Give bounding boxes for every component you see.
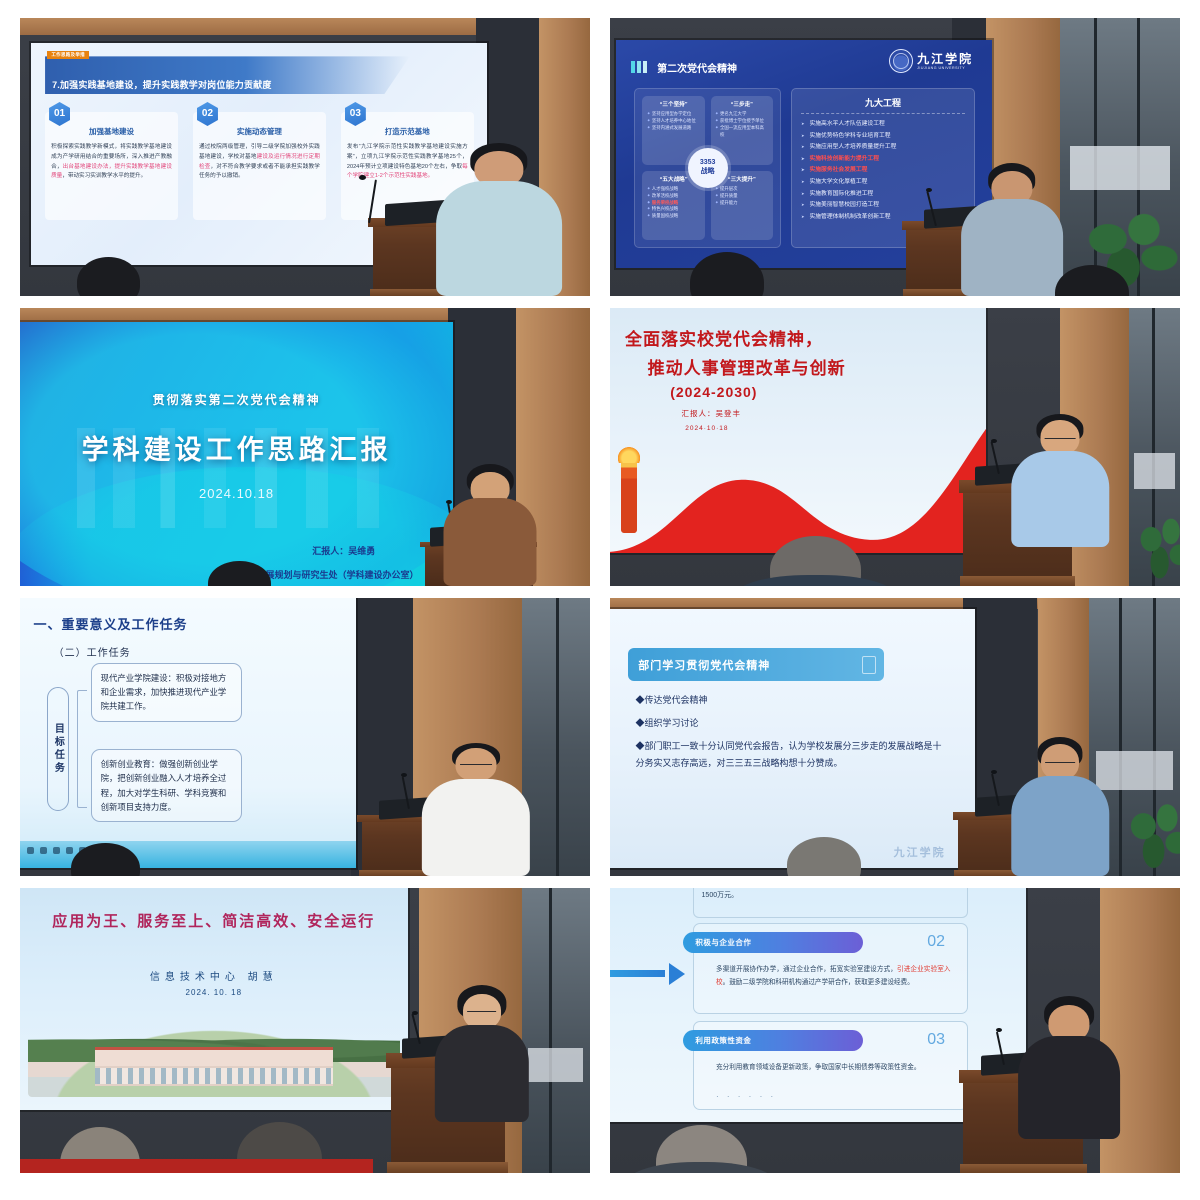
projection-screen: 部门学习贯彻党代会精神 传达党代会精神 组织学习讨论 部门职工一致十分认同党代会… [610,609,975,868]
project-item: 实施高水平人才队伍建设工程 [801,119,965,131]
torch-icon [621,455,637,533]
toolbar-icon-3[interactable] [53,847,60,854]
slide-period: (2024-2030) [670,384,757,400]
slide-subtitle: 贯彻落实第二次党代会精神 [20,391,453,408]
projection-screen: 应用为王、服务至上、简洁高效、安全运行 信息技术中心 胡慧 2024. 10. … [20,888,408,1110]
slide-title-line2: 推动人事管理改革与创新 [648,354,846,379]
slide-title: 7.加强实践基地建设，提升实践教学对岗位能力贡献度 [45,78,272,94]
project-item-highlight: 实施服务社会发展工程 [801,165,965,177]
slide-tag: 工作思路及举措 [47,51,89,59]
card-number: 03 [927,1031,945,1049]
slide-heading: 第二次党代会精神 [657,60,737,75]
card-heading: 加强基地建设 [51,126,172,137]
slide-title: 应用为王、服务至上、简洁高效、安全运行 [20,910,408,931]
quadrant-item: 质量固校战略 [647,213,699,220]
photo-panel-1[interactable]: 7.加强实践基地建设，提升实践教学对岗位能力贡献度 工作思路及举措 01 加强基… [20,18,590,296]
speaker-person [1009,737,1112,876]
funding-card: 积极与企业合作 02 多渠道开展协作办学，通过企业合作，拓宽实验室建设方式，引进… [693,923,968,1014]
table-runner [20,1159,373,1173]
microphone-head [926,188,932,192]
quadrant-item: 提升能力 [716,200,768,207]
slide-card: 02 实施动态管理 通过校院两级管理，引导二级学院加强校外实践基地建设，学校对基… [193,112,326,220]
quadrant-item: 全国一流应用型本科高校 [716,125,768,139]
potted-plant [1134,508,1180,586]
slide-discipline-title: 贯彻落实第二次党代会精神 学科建设工作思路汇报 2024.10.18 汇报人：吴… [20,322,453,586]
photo-panel-2[interactable]: 第二次党代会精神 九江学院 JIUJIANG UNIVERSITY “三个 [610,18,1180,296]
center-label-top: 3353 [700,159,716,168]
slide-bar-title: 部门学习贯彻党代会精神 [638,657,770,673]
bullet-item: 传达党代会精神 [636,692,946,708]
microphone-head [401,773,407,777]
arrow-icon [610,963,685,984]
center-label-bottom: 战略 [701,168,715,177]
project-item-highlight: 实施科技创新能力提升工程 [801,154,965,166]
card-heading: 实施动态管理 [199,126,320,137]
toolbar-icon-4[interactable] [66,847,73,854]
speaker-person [430,143,567,296]
university-seal-icon [889,49,913,73]
accent-bars-icon [631,61,647,73]
quadrant-item: 提升层次 [716,186,768,193]
speaker-person [1009,414,1112,547]
slide-dept-study: 部门学习贯彻党代会精神 传达党代会精神 组织学习讨论 部门职工一致十分认同党代会… [610,609,975,868]
slide-card: 01 加强基地建设 积极探索实践教学新模式，将实践教学基地建设成为产学研用结合的… [45,112,178,220]
slide-hr-reform: 全面落实校党代会精神， 推动人事管理改革与创新 (2024-2030) 汇报人：… [610,308,986,553]
card-fragment-text: 1500万元。 [702,890,739,903]
quadrant-item: 改革活校战略 [647,193,699,200]
task-box: 现代产业学院建设：积极对接地方和企业需求，加快推进现代产业学院共建工作。 [91,663,242,722]
decor-red-wave [610,362,986,553]
quadrant-item: 更名九江大学 [716,111,768,118]
university-logo: 九江学院 JIUJIANG UNIVERSITY [889,49,973,73]
card-number-hex: 02 [197,102,218,126]
card-body: 通过校院两级管理，引导二级学院加强校外实践基地建设，学校对基地建设及运行情况进行… [199,143,320,182]
campus-photo [28,1017,400,1097]
card-ellipsis: · · · · · · [716,1092,776,1101]
project-item: 实施教育国际化推进工程 [801,189,965,201]
bullet-item: 部门职工一致十分认同党代会报告，认为学校发展分三步走的发展战略是十分务实又志存高… [636,738,946,770]
project-item: 实施大学文化厚植工程 [801,177,965,189]
microphone-head [996,1028,1002,1032]
slide-watermark: 九江学院 [894,844,946,860]
quadrant-title: “三个坚持” [647,100,699,108]
quadrant-item: 获批博士学位授予单位 [716,118,768,125]
slide-subheading: （二）工作任务 [54,644,131,659]
card-heading: 打造示范基地 [347,126,468,137]
card-body: 多渠道开展协作办学，通过企业合作，拓宽实验室建设方式，引进企业实验室入校。鼓励二… [716,964,950,989]
glasses-icon [467,1011,497,1012]
toolbar-icon-1[interactable] [27,847,34,854]
projection-screen: 一、重要意义及工作任务 （二）工作任务 目标任务 现代产业学院建设：积极对接地方… [20,598,356,868]
photo-panel-3[interactable]: 贯彻落实第二次党代会精神 学科建设工作思路汇报 2024.10.18 汇报人：吴… [20,308,590,586]
bullet-item: 组织学习讨论 [636,715,946,731]
slide-work-tasks: 一、重要意义及工作任务 （二）工作任务 目标任务 现代产业学院建设：积极对接地方… [20,598,356,868]
photo-panel-7[interactable]: 应用为王、服务至上、简洁高效、安全运行 信息技术中心 胡慧 2024. 10. … [20,888,590,1173]
project-item: 实施应用型人才培养质量提升工程 [801,142,965,154]
strategy-center-badge: 3353 战略 [688,148,728,188]
slide-subtitle: 信息技术中心 胡慧 [20,968,408,983]
toolbar-icon-2[interactable] [40,847,47,854]
logo-text-en: JIUJIANG UNIVERSITY [917,67,973,71]
brace-connector [77,690,87,809]
list-title: 九大工程 [801,96,965,109]
card-pill-label: 利用政策性资金 [683,1030,863,1051]
glasses-icon [460,764,492,765]
strategy-matrix: “三个坚持” 坚持应用型办学定位 坚持人才培养中心地位 坚持内涵式发展道路 “三… [634,88,780,248]
photo-collage: 7.加强实践基地建设，提升实践教学对岗位能力贡献度 工作思路及举措 01 加强基… [0,0,1200,1200]
slide-heading: 一、重要意义及工作任务 [33,614,187,633]
speaker-person [430,985,533,1122]
card-number: 02 [927,933,945,951]
slide-title-bar: 部门学习贯彻党代会精神 [628,648,883,682]
slide-presenter: 汇报人：吴登丰 [681,408,741,419]
card-pill-label: 积极与企业合作 [683,932,863,953]
slide-title-banner: 7.加强实践基地建设，提升实践教学对岗位能力贡献度 [45,56,410,94]
glasses-icon [1045,438,1076,439]
quadrant-item: 坚持人才培养中心地位 [647,118,699,125]
microphone-head [991,439,997,443]
projection-screen: 贯彻落实第二次党代会精神 学科建设工作思路汇报 2024.10.18 汇报人：吴… [20,322,453,586]
slide-it-center: 应用为王、服务至上、简洁高效、安全运行 信息技术中心 胡慧 2024. 10. … [20,888,408,1110]
glasses-icon [1045,762,1075,763]
quadrant-item: 坚持应用型办学定位 [647,111,699,118]
task-box: 创新创业教育：做强创新创业学院，把创新创业融入人才培养全过程，加大对学生科研、学… [91,749,242,822]
speaker-person [442,464,539,586]
photo-panel-4[interactable]: 全面落实校党代会精神， 推动人事管理改革与创新 (2024-2030) 汇报人：… [610,308,1180,586]
speaker-person [958,163,1066,296]
slide-department: 发展规划与研究生处（学科建设办公室） [257,568,419,581]
speaker-person [1015,996,1123,1139]
card-number-hex: 03 [345,102,366,126]
speaker-person [419,743,533,876]
microphone-head [412,1011,418,1015]
brace-label: 目标任务 [47,687,69,811]
potted-plant [1123,793,1180,876]
card-number-hex: 01 [49,102,70,126]
quadrant-item: 人才强校战略 [647,186,699,193]
quadrant-title: “三步走” [716,100,768,108]
quadrant-item: 提升质量 [716,193,768,200]
slide-date: 2024. 10. 18 [20,988,408,997]
funding-card: 利用政策性资金 03 充分利用教育领域设备更新政策，争取国家中长期债券等政策性资… [693,1021,968,1110]
photo-panel-5[interactable]: 一、重要意义及工作任务 （二）工作任务 目标任务 现代产业学院建设：积极对接地方… [20,598,590,876]
logo-text-cn: 九江学院 [917,53,973,65]
book-icon [862,656,876,674]
quadrant-item: 坚持内涵式发展道路 [647,125,699,132]
slide-date: 2024·10·18 [685,425,728,432]
slide-title: 学科建设工作思路汇报 [20,428,453,467]
card-body: 积极探索实践教学新模式，将实践教学基地建设成为产学研用结合的重要场所，深入推进产… [51,143,172,182]
photo-panel-8[interactable]: 1500万元。 积极与企业合作 02 多渠道开展协作办学，通过企业合作，拓宽实验… [610,888,1180,1173]
project-item: 实施优势特色学科专业培育工程 [801,131,965,143]
slide-title-line1: 全面落实校党代会精神， [625,325,823,350]
projection-screen: 全面落实校党代会精神， 推动人事管理改革与创新 (2024-2030) 汇报人：… [610,308,986,553]
slide-date: 2024.10.18 [20,486,453,501]
card-body: 充分利用教育领域设备更新政策，争取国家中长期债券等政策性资金。 [716,1062,950,1075]
photo-panel-6[interactable]: 部门学习贯彻党代会精神 传达党代会精神 组织学习讨论 部门职工一致十分认同党代会… [610,598,1180,876]
slide-presenter: 汇报人：吴维勇 [312,544,375,557]
